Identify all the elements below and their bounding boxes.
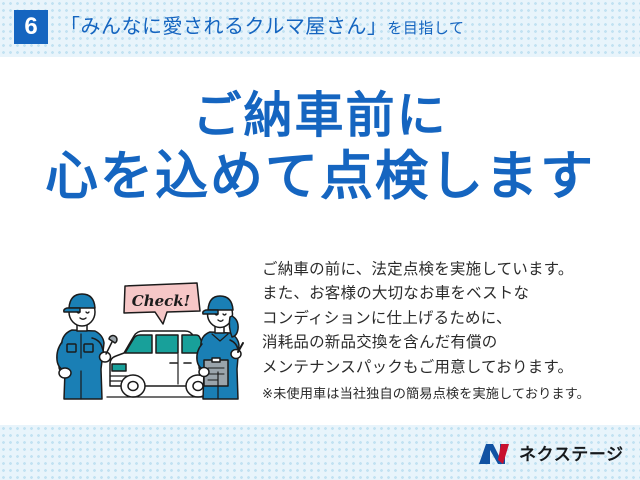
header-title-main: 「みんなに愛されるクルマ屋さん」 xyxy=(60,16,387,38)
body-line: 消耗品の新品交換を含んだ有償の xyxy=(262,331,622,355)
body-line: ご納車の前に、法定点検を実施しています。 xyxy=(262,258,622,282)
mechanic-female xyxy=(197,296,243,399)
header-title: 「みんなに愛されるクルマ屋さん」を目指して xyxy=(60,17,464,37)
step-number-badge: 6 xyxy=(14,10,48,44)
body-line: コンディションに仕上げるために、 xyxy=(262,307,622,331)
mechanics-van-illustration: Check! xyxy=(52,268,252,403)
body-line: メンテナンスパックもご用意しております。 xyxy=(262,356,622,380)
nexstage-n-mark xyxy=(478,442,512,466)
body-note: ※未使用車は当社独自の簡易点検を実施しております。 xyxy=(262,384,622,404)
body-copy: ご納車の前に、法定点検を実施しています。 また、お客様の大切なお車をベストな コ… xyxy=(262,258,622,404)
header: 6 「みんなに愛されるクルマ屋さん」を目指して xyxy=(14,10,464,44)
mechanic-male xyxy=(57,294,117,399)
brand-logo: ネクステージ xyxy=(478,441,624,467)
header-title-suffix: を目指して xyxy=(387,20,464,37)
headline-line-1: ご納車前に xyxy=(0,88,640,146)
promo-page: 6 「みんなに愛されるクルマ屋さん」を目指して ご納車前に 心を込めて点検します… xyxy=(0,0,640,480)
check-bubble-label: Check! xyxy=(132,292,191,310)
page-headline: ご納車前に 心を込めて点検します xyxy=(0,88,640,208)
brand-name-label: ネクステージ xyxy=(519,446,624,463)
body-line: また、お客様の大切なお車をベストな xyxy=(262,282,622,306)
headline-line-2: 心を込めて点検します xyxy=(0,146,640,209)
